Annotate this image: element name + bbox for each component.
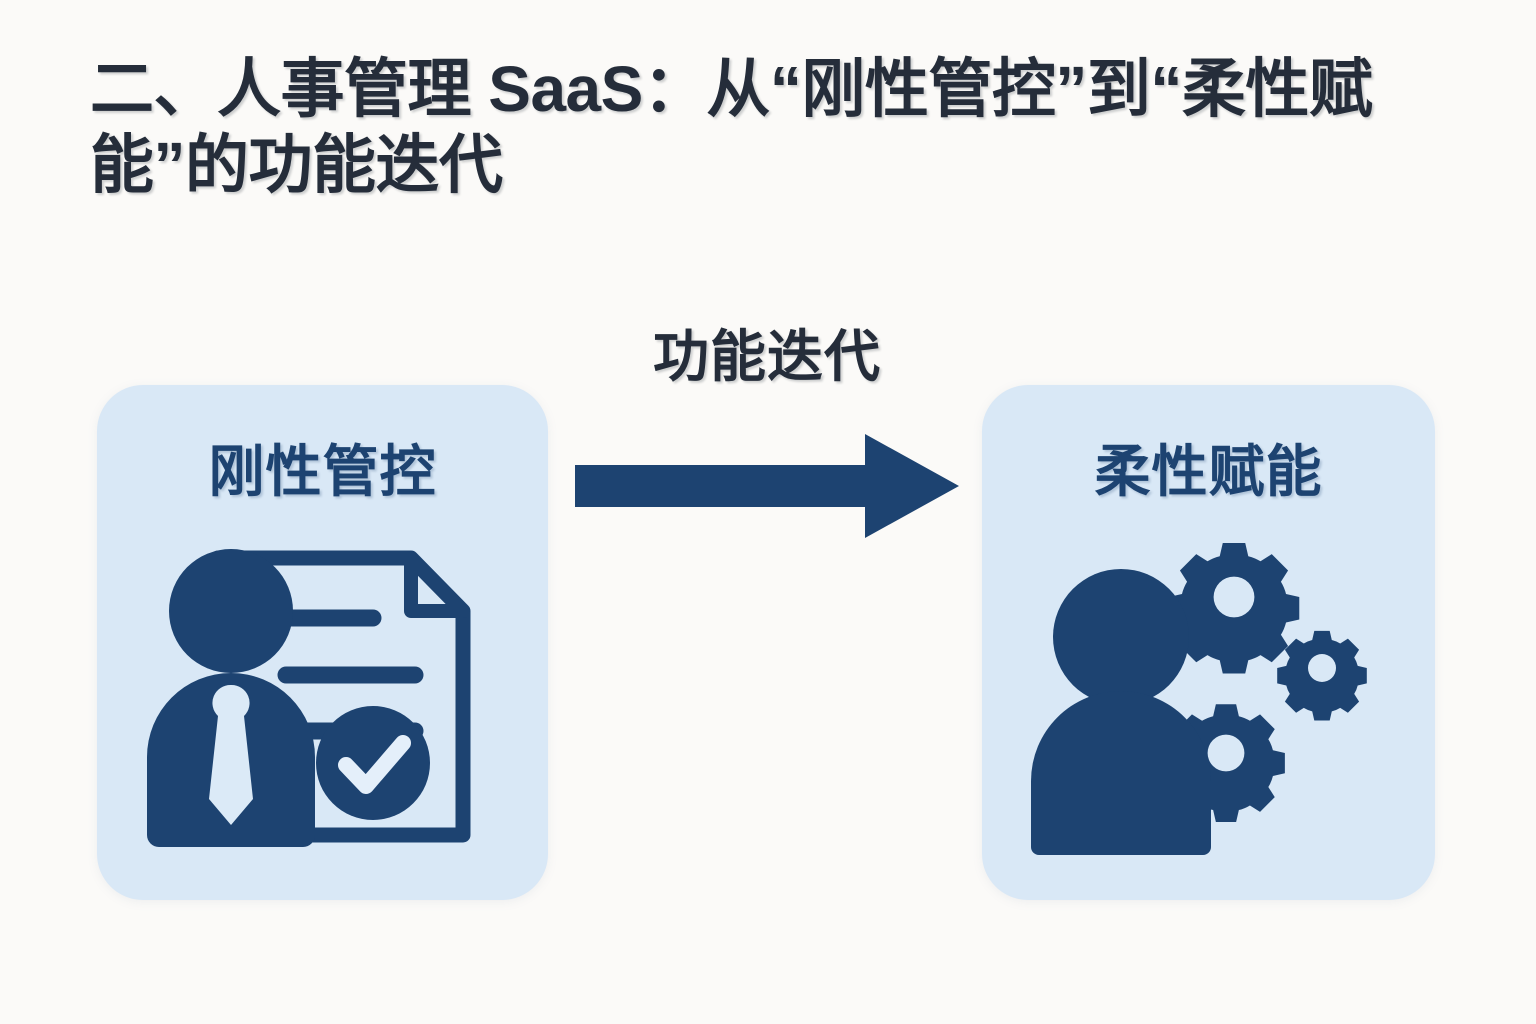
right-arrow-icon — [575, 434, 959, 538]
flexible-empowerment-illustration — [1029, 535, 1389, 855]
arrow-label: 功能迭代 — [575, 312, 959, 393]
rigid-control-illustration — [143, 535, 503, 855]
person-with-tie-icon — [147, 549, 315, 847]
transition-diagram: 刚性管控 — [0, 0, 1536, 1024]
card-flexible-empowerment-heading: 柔性赋能 — [982, 427, 1435, 508]
check-circle-icon — [316, 706, 430, 820]
necktie-icon — [209, 685, 253, 825]
card-rigid-control: 刚性管控 — [97, 385, 548, 900]
employee-document-approval-icon — [97, 535, 548, 855]
person-with-gears-icon — [982, 535, 1435, 855]
person-icon — [1031, 569, 1211, 855]
card-rigid-control-heading: 刚性管控 — [97, 427, 548, 508]
gear-large-icon — [1168, 543, 1299, 674]
card-flexible-empowerment: 柔性赋能 — [982, 385, 1435, 900]
gear-small-icon — [1277, 631, 1367, 721]
